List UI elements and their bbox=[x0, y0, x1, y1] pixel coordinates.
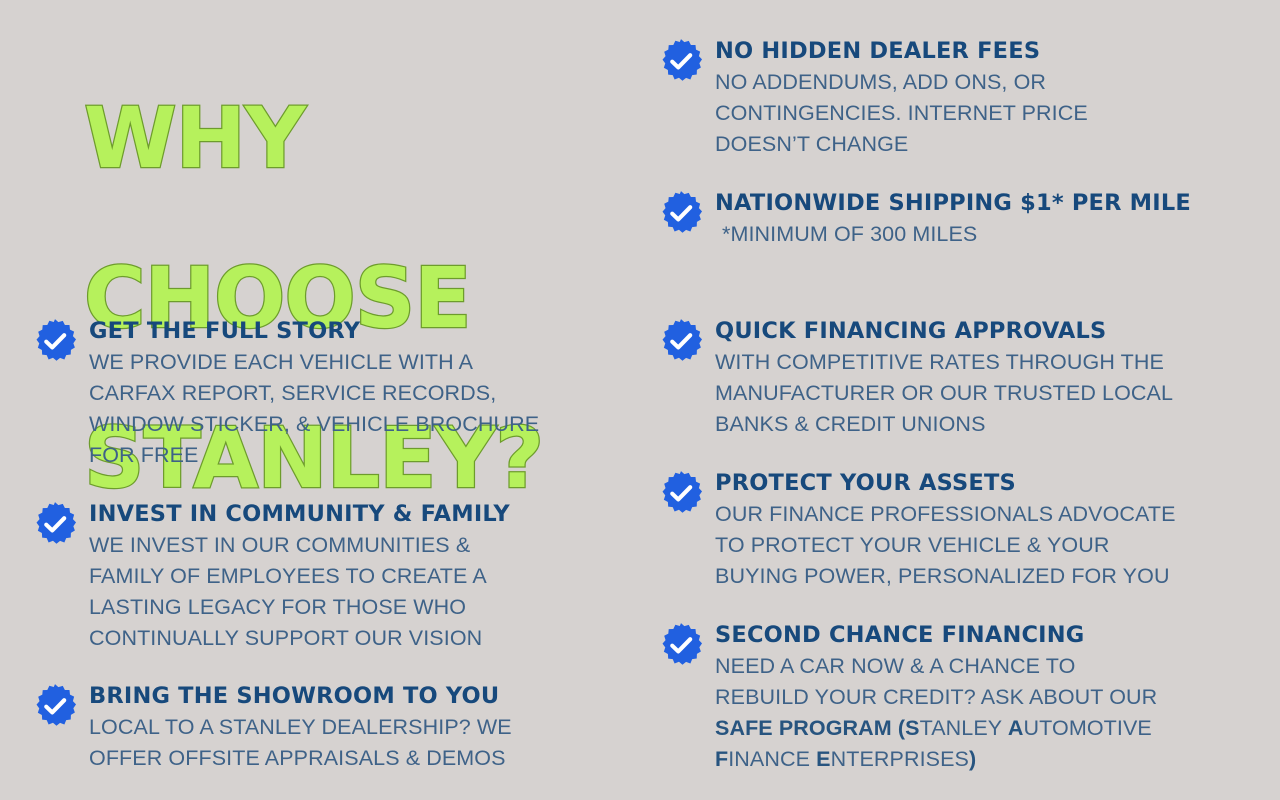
page-title: WHY CHOOSE STANLEY? bbox=[84, 18, 604, 578]
feature-item-invest-in-community-and-family: INVEST IN COMMUNITY & FAMILY WE INVEST I… bbox=[32, 499, 616, 654]
feature-body: NO ADDENDUMS, ADD ONS, OR CONTINGENCIES.… bbox=[715, 67, 1250, 160]
feature-title: QUICK FINANCING APPROVALS bbox=[715, 316, 1258, 346]
feature-item-nationwide-shipping: NATIONWIDE SHIPPING $1* PER MILE *MINIMU… bbox=[658, 188, 1250, 250]
verified-check-badge-icon bbox=[32, 683, 78, 729]
feature-body: LOCAL TO A STANLEY DEALERSHIP? WE OFFER … bbox=[89, 712, 616, 774]
verified-check-badge-icon bbox=[658, 470, 704, 516]
feature-text-block: QUICK FINANCING APPROVALS WITH COMPETITI… bbox=[715, 316, 1258, 440]
page-title-line-1: WHY bbox=[84, 98, 604, 178]
feature-body: OUR FINANCE PROFESSIONALS ADVOCATE TO PR… bbox=[715, 499, 1258, 592]
feature-item-quick-financing-approvals: QUICK FINANCING APPROVALS WITH COMPETITI… bbox=[658, 316, 1258, 440]
feature-text-block: GET THE FULL STORY WE PROVIDE EACH VEHIC… bbox=[89, 316, 616, 471]
feature-text-block: SECOND CHANCE FINANCING NEED A CAR NOW &… bbox=[715, 620, 1258, 775]
feature-item-protect-your-assets: PROTECT YOUR ASSETS OUR FINANCE PROFESSI… bbox=[658, 468, 1258, 592]
feature-text-block: INVEST IN COMMUNITY & FAMILY WE INVEST I… bbox=[89, 499, 616, 654]
feature-text-block: NATIONWIDE SHIPPING $1* PER MILE *MINIMU… bbox=[715, 188, 1250, 250]
feature-title: BRING THE SHOWROOM TO YOU bbox=[89, 681, 616, 711]
feature-title: GET THE FULL STORY bbox=[89, 316, 616, 346]
verified-check-badge-icon bbox=[32, 318, 78, 364]
verified-check-badge-icon bbox=[658, 622, 704, 668]
feature-item-no-hidden-dealer-fees: NO HIDDEN DEALER FEES NO ADDENDUMS, ADD … bbox=[658, 36, 1250, 160]
feature-item-get-the-full-story: GET THE FULL STORY WE PROVIDE EACH VEHIC… bbox=[32, 316, 616, 471]
why-choose-stanley-poster: WHY CHOOSE STANLEY? GET THE FULL STORY W… bbox=[0, 0, 1280, 800]
feature-title: PROTECT YOUR ASSETS bbox=[715, 468, 1258, 498]
verified-check-badge-icon bbox=[658, 190, 704, 236]
verified-check-badge-icon bbox=[32, 501, 78, 547]
feature-title: INVEST IN COMMUNITY & FAMILY bbox=[89, 499, 616, 529]
verified-check-badge-icon bbox=[658, 38, 704, 84]
feature-title: NATIONWIDE SHIPPING $1* PER MILE bbox=[715, 188, 1250, 218]
feature-text-block: NO HIDDEN DEALER FEES NO ADDENDUMS, ADD … bbox=[715, 36, 1250, 160]
feature-item-second-chance-financing: SECOND CHANCE FINANCING NEED A CAR NOW &… bbox=[658, 620, 1258, 775]
feature-text-block: BRING THE SHOWROOM TO YOU LOCAL TO A STA… bbox=[89, 681, 616, 774]
feature-item-bring-the-showroom-to-you: BRING THE SHOWROOM TO YOU LOCAL TO A STA… bbox=[32, 681, 616, 774]
feature-footnote: *MINIMUM OF 300 MILES bbox=[715, 219, 1250, 250]
feature-body: WE INVEST IN OUR COMMUNITIES & FAMILY OF… bbox=[89, 530, 616, 654]
verified-check-badge-icon bbox=[658, 318, 704, 364]
feature-body: NEED A CAR NOW & A CHANCE TO REBUILD YOU… bbox=[715, 651, 1258, 775]
feature-title: SECOND CHANCE FINANCING bbox=[715, 620, 1258, 650]
feature-title: NO HIDDEN DEALER FEES bbox=[715, 36, 1250, 66]
feature-text-block: PROTECT YOUR ASSETS OUR FINANCE PROFESSI… bbox=[715, 468, 1258, 592]
feature-body: WITH COMPETITIVE RATES THROUGH THE MANUF… bbox=[715, 347, 1258, 440]
feature-body: WE PROVIDE EACH VEHICLE WITH A CARFAX RE… bbox=[89, 347, 616, 471]
